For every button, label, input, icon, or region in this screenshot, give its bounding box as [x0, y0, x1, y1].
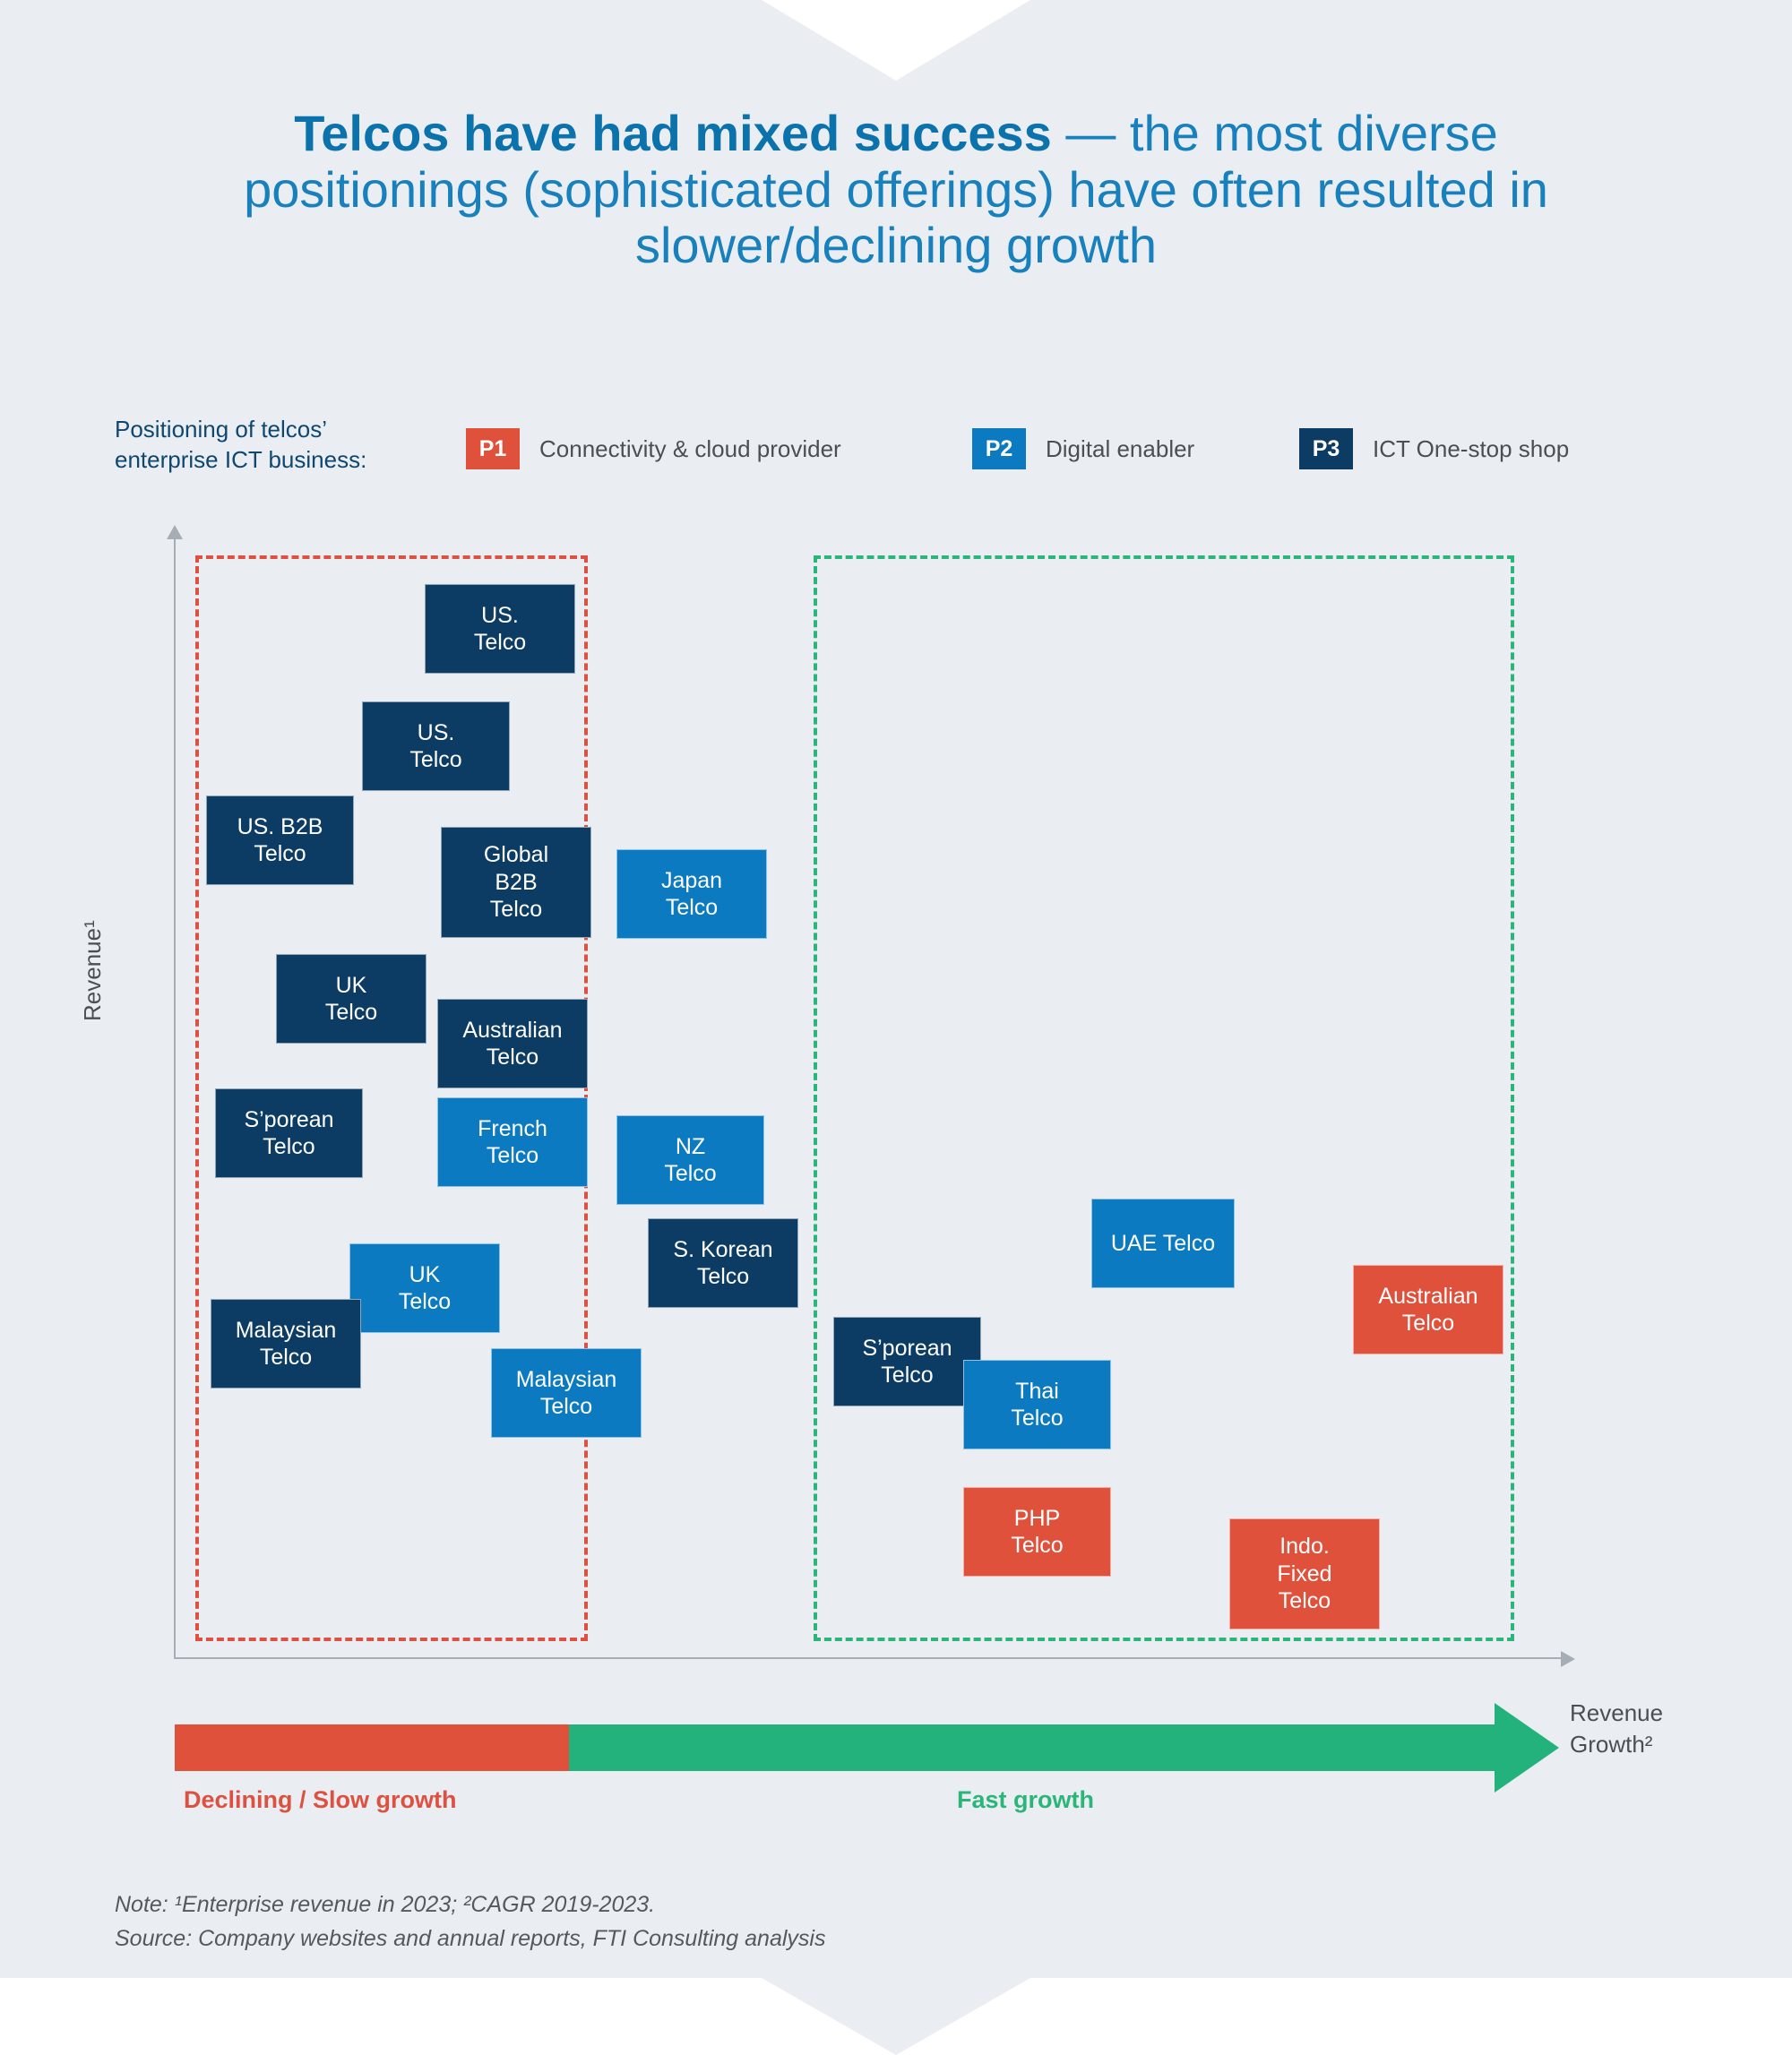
y-axis-title: Revenue¹: [79, 920, 107, 1021]
telco-box-label: S’poreanTelco: [244, 1106, 333, 1161]
telco-box[interactable]: MalaysianTelco: [491, 1348, 642, 1438]
telco-box-label: MalaysianTelco: [516, 1366, 617, 1421]
x-axis-arrow-icon: [1561, 1651, 1575, 1667]
growth-bar-fast: [569, 1724, 1496, 1771]
telco-box[interactable]: US. B2BTelco: [206, 795, 354, 885]
telco-box[interactable]: UAE Telco: [1091, 1199, 1235, 1288]
y-axis-arrow-icon: [167, 525, 183, 539]
telco-box-label: UKTelco: [325, 972, 377, 1027]
telco-box-label: Indo.FixedTelco: [1277, 1533, 1331, 1615]
telco-box-label: ThaiTelco: [1011, 1378, 1063, 1432]
growth-bar-label-declining: Declining / Slow growth: [184, 1786, 457, 1814]
telco-box-label: MalaysianTelco: [236, 1317, 337, 1371]
x-axis-title: Revenue Growth²: [1570, 1698, 1663, 1760]
telco-box[interactable]: Indo.FixedTelco: [1229, 1518, 1380, 1629]
telco-box[interactable]: GlobalB2BTelco: [441, 827, 591, 938]
telco-box[interactable]: US.Telco: [362, 701, 510, 791]
telco-box[interactable]: S. KoreanTelco: [648, 1218, 798, 1308]
telco-box[interactable]: US.Telco: [425, 584, 575, 674]
y-axis-line: [174, 532, 176, 1659]
footnote-note: Note: ¹Enterprise revenue in 2023; ²CAGR…: [115, 1888, 825, 1922]
telco-box-label: US. B2BTelco: [237, 813, 323, 868]
x-axis-title-line2: Growth²: [1570, 1729, 1663, 1760]
telco-box-label: AustralianTelco: [1378, 1283, 1478, 1337]
telco-box-label: UKTelco: [399, 1261, 451, 1316]
telco-box-label: GlobalB2BTelco: [484, 841, 548, 924]
zone-fast-growth: [814, 555, 1514, 1641]
telco-box[interactable]: PHPTelco: [963, 1487, 1111, 1577]
telco-box-label: PHPTelco: [1011, 1505, 1063, 1560]
slide-canvas: Telcos have had mixed success — the most…: [0, 0, 1792, 2055]
telco-box[interactable]: FrenchTelco: [437, 1097, 588, 1187]
telco-box-label: UAE Telco: [1111, 1230, 1215, 1258]
telco-box[interactable]: JapanTelco: [616, 849, 767, 939]
telco-box-label: S. KoreanTelco: [673, 1236, 772, 1291]
telco-box-label: NZTelco: [664, 1133, 716, 1188]
telco-box[interactable]: S’poreanTelco: [215, 1088, 363, 1178]
x-axis-title-line1: Revenue: [1570, 1698, 1663, 1729]
x-axis-line: [174, 1657, 1563, 1659]
telco-box[interactable]: AustralianTelco: [1353, 1265, 1503, 1354]
growth-bar-label-fast: Fast growth: [957, 1786, 1094, 1814]
telco-box[interactable]: S’poreanTelco: [833, 1317, 981, 1406]
telco-box-label: US.Telco: [474, 602, 526, 657]
telco-box-label: S’poreanTelco: [862, 1335, 952, 1389]
telco-box-label: AustralianTelco: [462, 1017, 562, 1071]
telco-box[interactable]: ThaiTelco: [963, 1360, 1111, 1449]
telco-box[interactable]: AustralianTelco: [437, 999, 588, 1088]
growth-bar-declining: [175, 1724, 569, 1771]
footnote: Note: ¹Enterprise revenue in 2023; ²CAGR…: [115, 1888, 825, 1956]
telco-box[interactable]: UKTelco: [349, 1243, 500, 1333]
growth-bar-arrowhead-icon: [1495, 1703, 1559, 1793]
telco-box-label: JapanTelco: [661, 867, 722, 922]
telco-box[interactable]: MalaysianTelco: [211, 1299, 361, 1389]
telco-box[interactable]: UKTelco: [276, 954, 426, 1044]
telco-box-label: FrenchTelco: [478, 1115, 547, 1170]
telco-box[interactable]: NZTelco: [616, 1115, 764, 1205]
footnote-source: Source: Company websites and annual repo…: [115, 1922, 825, 1956]
telco-box-label: US.Telco: [409, 719, 461, 774]
